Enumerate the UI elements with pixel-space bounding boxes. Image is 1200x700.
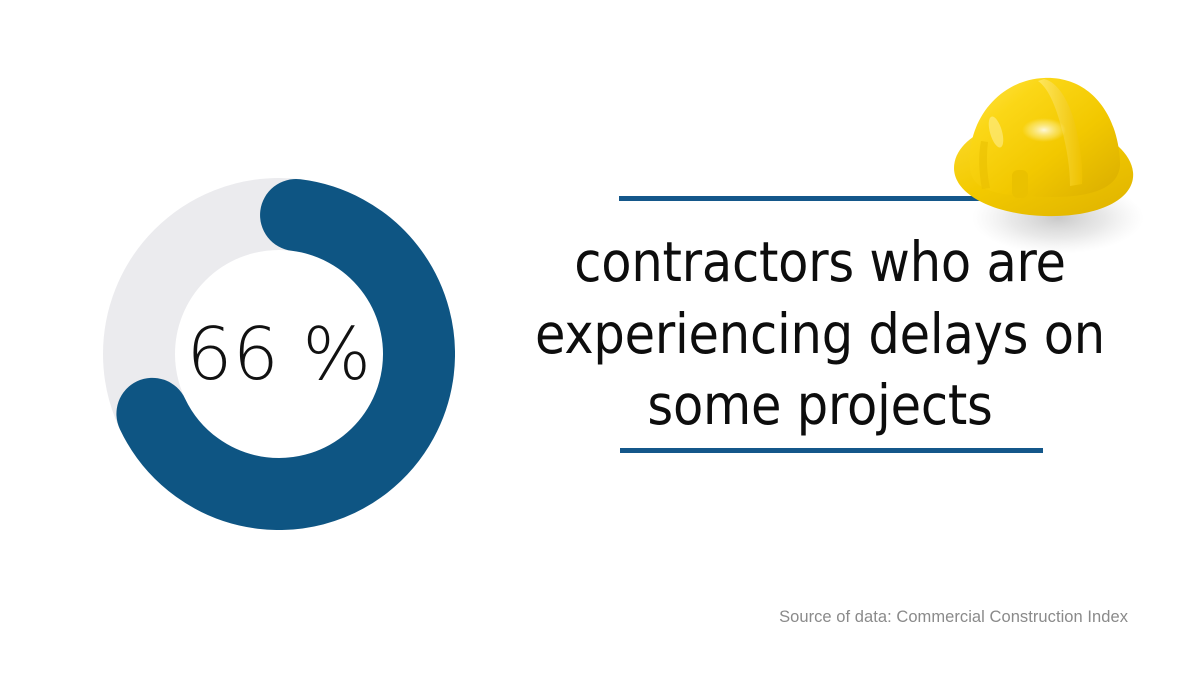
hard-hat-highlight-main	[1022, 118, 1066, 142]
hard-hat-icon	[940, 58, 1145, 258]
divider-line-bottom	[620, 448, 1043, 453]
hard-hat-bracket	[1012, 170, 1028, 198]
hard-hat-illustration	[940, 58, 1145, 258]
statement-line-3: some projects	[510, 370, 1130, 442]
infographic-slide: 66 % contractors who are experiencing de…	[0, 0, 1200, 700]
statement-line-2: experiencing delays on	[510, 299, 1130, 371]
donut-center-value: 66 %	[103, 178, 455, 530]
donut-chart: 66 %	[103, 178, 455, 530]
divider-line-top	[619, 196, 981, 201]
source-note: Source of data: Commercial Construction …	[779, 608, 1128, 627]
statement-text: contractors who are experiencing delays …	[510, 227, 1130, 442]
